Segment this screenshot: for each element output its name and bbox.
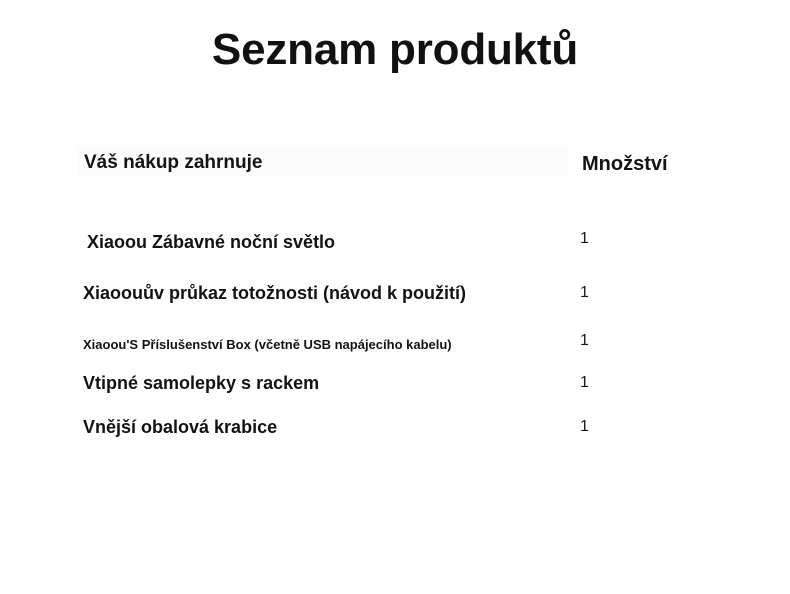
- product-table: Váš nákup zahrnuje Množství Xiaoou Zábav…: [0, 0, 790, 594]
- product-name: Xiaoou'S Příslušenství Box (včetně USB n…: [83, 337, 452, 352]
- table-header-row: Váš nákup zahrnuje Množství: [0, 152, 790, 180]
- product-quantity: 1: [580, 418, 589, 436]
- product-quantity: 1: [580, 284, 589, 302]
- product-name: Vnější obalová krabice: [83, 417, 277, 438]
- column-header-quantity: Množství: [582, 153, 668, 176]
- product-name: Vtipné samolepky s rackem: [83, 373, 319, 394]
- product-name: Xiaoou Zábavné noční světlo: [87, 232, 335, 253]
- product-quantity: 1: [580, 332, 589, 350]
- product-quantity: 1: [580, 230, 589, 248]
- product-quantity: 1: [580, 374, 589, 392]
- product-name: Xiaoouův průkaz totožnosti (návod k použ…: [83, 283, 466, 304]
- column-header-description: Váš nákup zahrnuje: [84, 152, 262, 174]
- product-list-page: Seznam produktů Váš nákup zahrnuje Množs…: [0, 0, 790, 594]
